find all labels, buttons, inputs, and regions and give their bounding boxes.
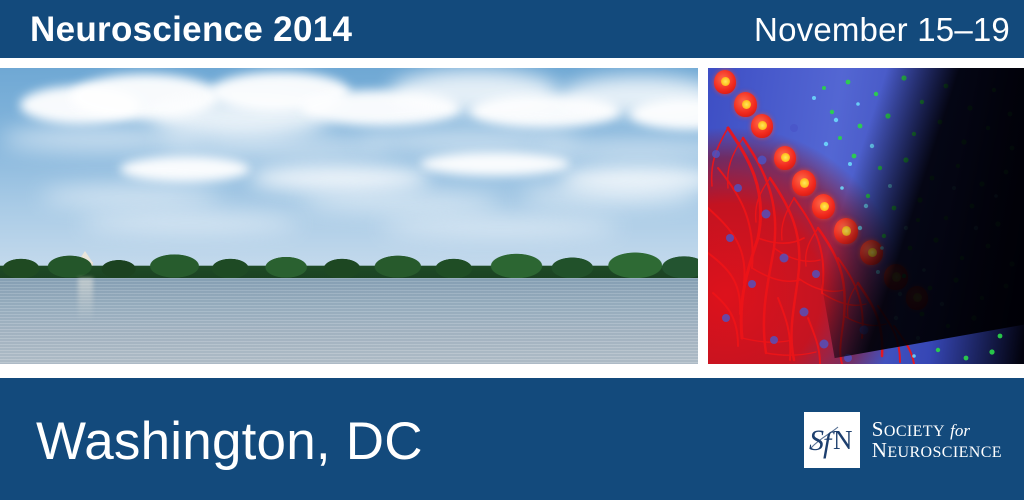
location-label: Washington, DC <box>36 415 423 468</box>
image-strip <box>0 68 1024 364</box>
sfn-neuroscience-rest: EUROSCIENCE <box>887 444 1002 461</box>
tidal-basin-water <box>0 278 698 364</box>
header-bar: Neuroscience 2014 November 15–19 <box>0 0 1024 58</box>
sfn-monogram-icon: S f N <box>804 412 860 468</box>
washington-dc-photo <box>0 68 698 364</box>
micrograph-canvas <box>708 68 1024 364</box>
event-dates: November 15–19 <box>754 13 1010 46</box>
conference-banner: Neuroscience 2014 November 15–19 <box>0 0 1024 500</box>
svg-text:N: N <box>833 425 853 455</box>
sfn-wordmark: SOCIETY for NEUROSCIENCE <box>872 419 1002 462</box>
sfn-line-neuroscience: NEUROSCIENCE <box>872 440 1002 461</box>
sfn-neuroscience-initial: N <box>872 438 888 462</box>
sfn-line-society: SOCIETY for <box>872 419 1002 440</box>
page-title: Neuroscience 2014 <box>30 12 352 47</box>
sfn-society-initial: S <box>872 417 884 441</box>
micrograph-photo <box>708 68 1024 364</box>
svg-text:S: S <box>809 424 824 457</box>
sky <box>0 68 698 266</box>
sfn-logo: S f N SOCIETY for NEUROSCIENCE <box>804 412 1002 468</box>
sfn-for-word: for <box>950 421 970 440</box>
sfn-society-rest: OCIETY <box>884 423 945 440</box>
footer-bar: Washington, DC S f N SOCIETY for <box>0 378 1024 500</box>
